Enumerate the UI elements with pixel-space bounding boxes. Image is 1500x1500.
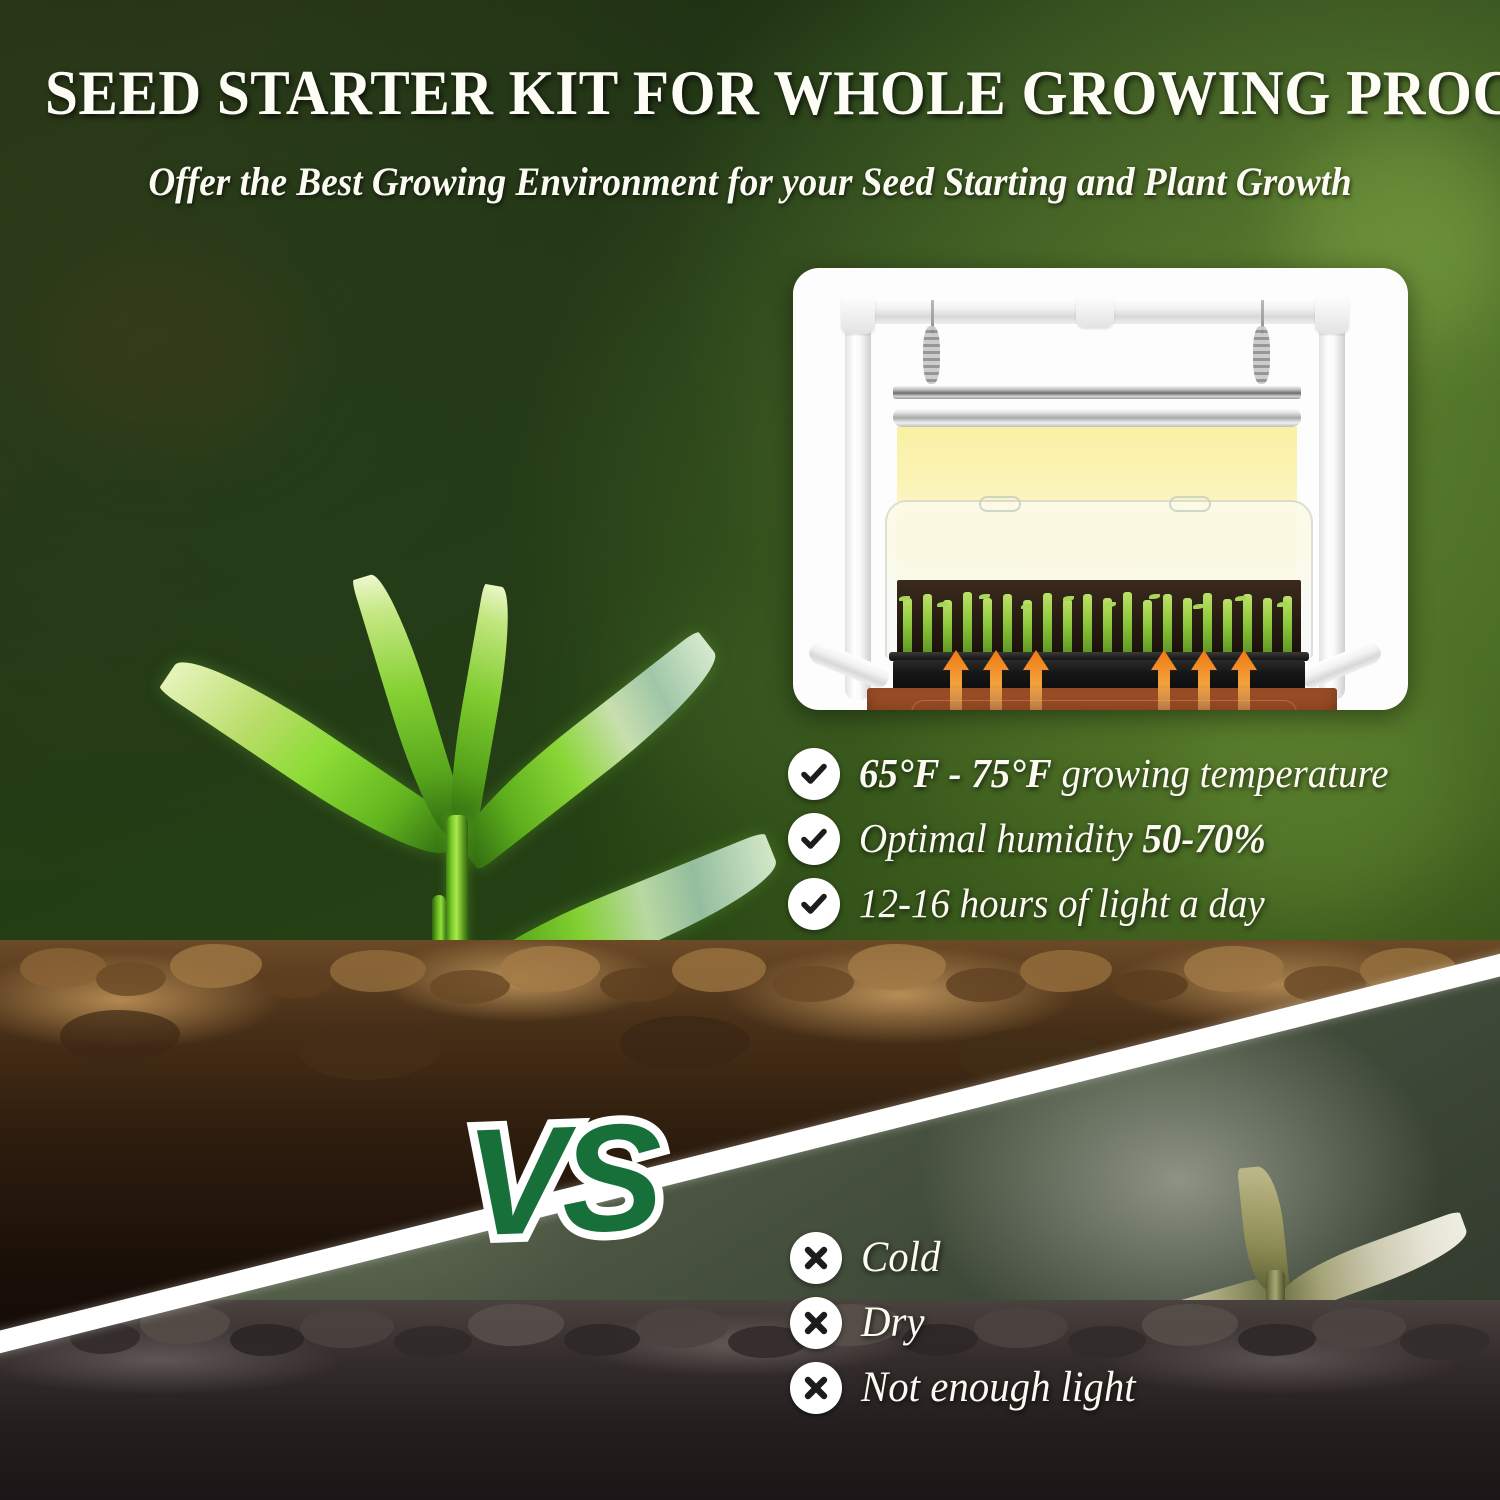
list-item: Not enough light [790, 1362, 1410, 1414]
good-condition-text: 12-16 hours of light a day [859, 881, 1265, 927]
chain-left-tangle [923, 326, 940, 384]
grow-light-rail [893, 386, 1301, 399]
cross-icon [790, 1232, 842, 1284]
cross-icon [790, 1297, 842, 1349]
check-icon [788, 878, 840, 930]
good-condition-text: 65°F - 75°F growing temperature [859, 751, 1389, 797]
heat-arrow [1151, 650, 1177, 710]
seedling-bed [897, 580, 1301, 656]
pvc-top-joint [1076, 294, 1114, 328]
page-subtitle: Offer the Best Growing Environment for y… [53, 160, 1448, 204]
heat-arrow [1191, 650, 1217, 710]
check-icon [788, 748, 840, 800]
list-item: 12-16 hours of light a day [788, 878, 1488, 930]
heat-arrow [1231, 650, 1257, 710]
good-condition-text: Optimal humidity 50-70% [859, 816, 1266, 862]
pvc-right-elbow [1315, 294, 1349, 334]
good-label: growing temperature [1052, 750, 1389, 796]
dome-vent-right [1169, 496, 1211, 512]
good-conditions-list: 65°F - 75°F growing temperature Optimal … [788, 748, 1488, 943]
pvc-left-leg [845, 304, 871, 700]
vs-badge: VS [463, 1101, 659, 1260]
check-icon [788, 813, 840, 865]
list-item: 65°F - 75°F growing temperature [788, 748, 1488, 800]
heat-arrow [943, 650, 969, 710]
bad-condition-text: Not enough light [861, 1364, 1136, 1412]
list-item: Cold [790, 1232, 1410, 1284]
heat-arrow [983, 650, 1009, 710]
good-value: 65°F - 75°F [859, 750, 1052, 796]
bad-condition-text: Cold [861, 1234, 940, 1282]
good-label: Optimal humidity [859, 815, 1142, 861]
chain-right-tangle [1253, 326, 1270, 384]
pvc-right-leg [1319, 304, 1345, 700]
product-infographic: SEED STARTER KIT FOR WHOLE GROWING PROCE… [0, 0, 1500, 1500]
bad-condition-text: Dry [861, 1299, 925, 1347]
healthy-seedling-illustration [30, 255, 750, 1035]
dome-vent-left [979, 496, 1021, 512]
list-item: Optimal humidity 50-70% [788, 813, 1488, 865]
bad-conditions-list: Cold Dry Not enough light [790, 1232, 1410, 1427]
pvc-left-elbow [841, 294, 875, 334]
product-inset-panel [793, 268, 1408, 710]
list-item: Dry [790, 1297, 1410, 1349]
page-title: SEED STARTER KIT FOR WHOLE GROWING PROCE… [45, 62, 1455, 125]
cross-icon [790, 1362, 842, 1414]
heat-arrow [1023, 650, 1049, 710]
good-value: 50-70% [1142, 815, 1265, 861]
grow-light-tube [893, 408, 1301, 427]
